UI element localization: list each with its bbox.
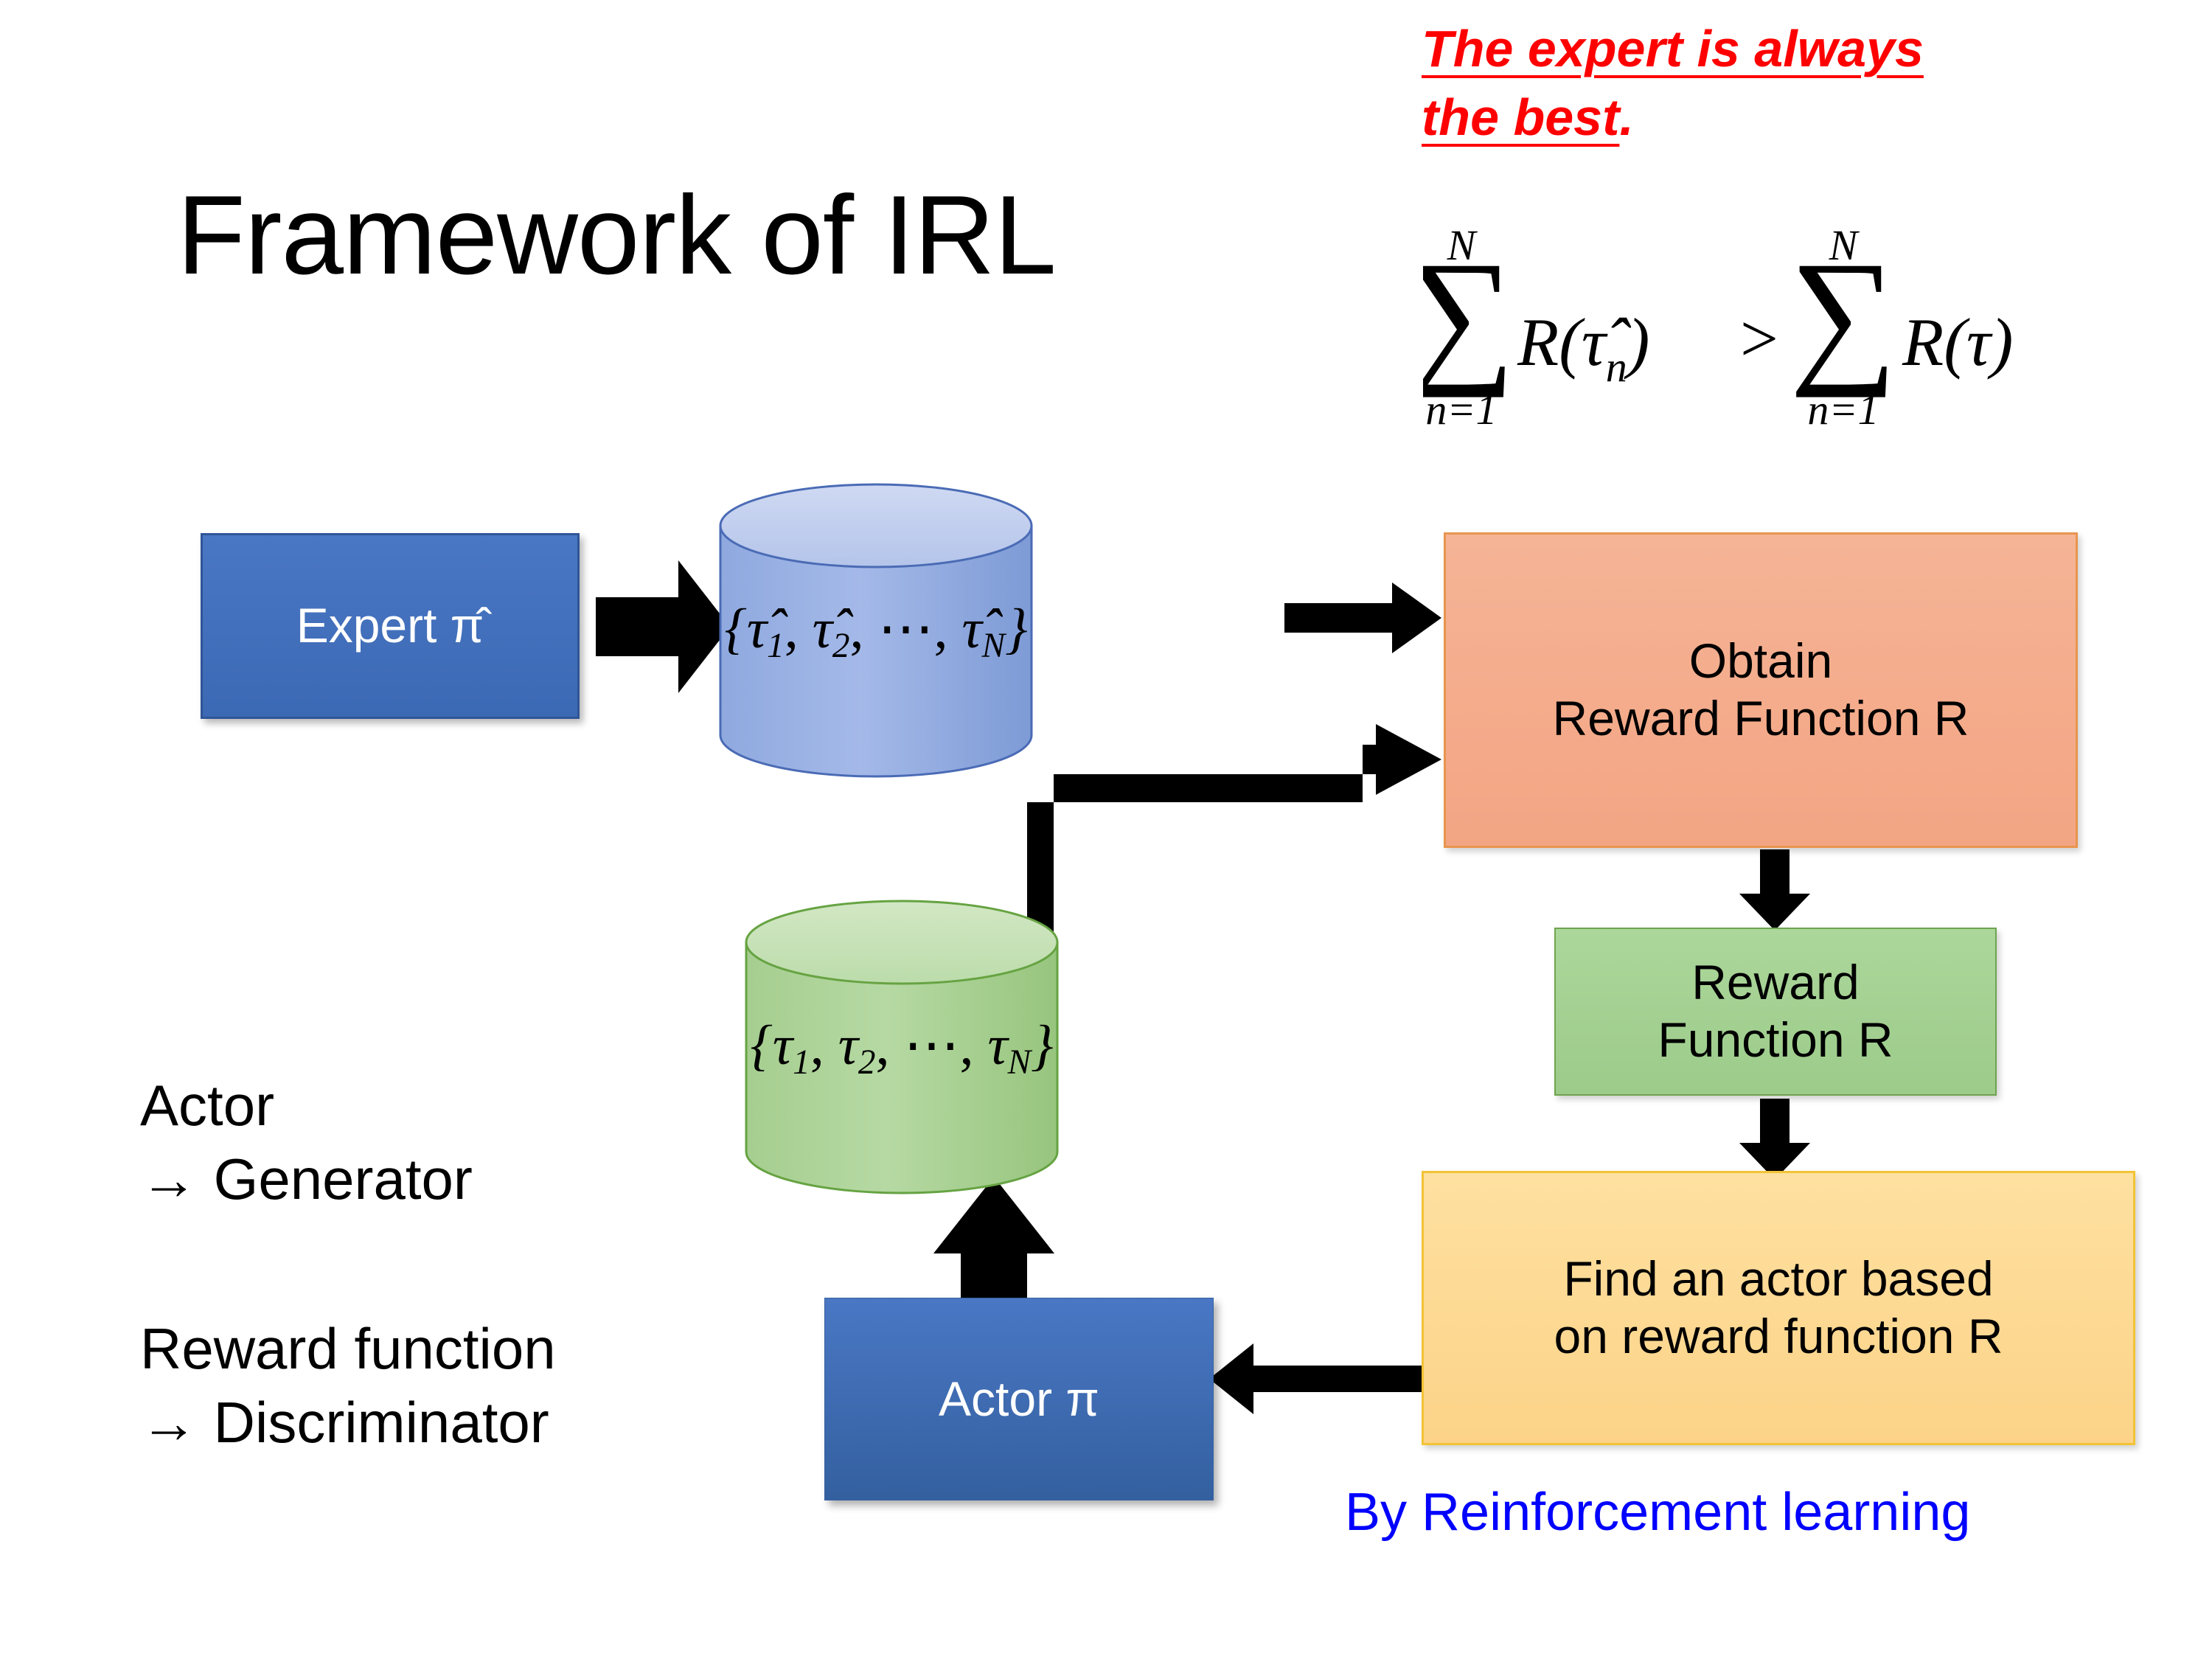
expert-trajectory-set: {τ̂1, τ̂2, ⋯, τ̂N}: [725, 595, 1028, 666]
arrow-find-to-actor: [1209, 1343, 1422, 1414]
expert-note: The expert is always the best.: [1422, 15, 2159, 152]
arrow-trajectories-to-obtain: [1284, 582, 1441, 653]
note-actor-line2: → Generator: [140, 1143, 473, 1217]
page-title: Framework of IRL: [177, 177, 1056, 295]
arrow-expert-to-trajectories: [596, 560, 730, 693]
expert-trajectory-label: {τ̂1, τ̂2, ⋯, τ̂N}: [719, 483, 1033, 778]
expert-note-line1-text: The expert is always: [1422, 20, 1924, 77]
obtain-reward-function-box[interactable]: Obtain Reward Function R: [1444, 532, 2078, 848]
note-reward-line2: → Discriminator: [140, 1386, 556, 1460]
reward-line-1: Reward: [1691, 955, 1859, 1009]
obtain-reward-function-label: Obtain Reward Function R: [1553, 633, 1969, 748]
reward-inequality-formula: N ∑ n=1 R(τ̂n) > N ∑ n=1 R(τ): [1423, 221, 2183, 435]
arrow-head-actor-traj-to-obtain: [1376, 724, 1441, 795]
expert-policy-box[interactable]: Expert π̂: [201, 533, 580, 719]
actor-policy-label: Actor π: [939, 1371, 1099, 1428]
find-actor-label: Find an actor based on reward function R: [1554, 1251, 2003, 1366]
actor-trajectory-label: {τ1, τ2, ⋯, τN}: [745, 900, 1059, 1194]
reward-function-box[interactable]: Reward Function R: [1554, 928, 1997, 1096]
expert-trajectory-store: {τ̂1, τ̂2, ⋯, τ̂N}: [719, 483, 1033, 778]
arrow-obtain-to-reward: [1739, 849, 1810, 931]
right-sum-sigma: ∑: [1790, 231, 1897, 398]
expert-note-line2-text: the best: [1422, 88, 1619, 146]
relation-greater-than: >: [1740, 301, 1778, 376]
note-actor-generator: Actor → Generator: [140, 1069, 473, 1217]
note-actor-line1: Actor: [140, 1069, 473, 1143]
arrow-reward-to-find: [1739, 1099, 1810, 1180]
left-term: R(τ̂n): [1517, 305, 1649, 391]
connector-stub: [1363, 745, 1389, 774]
connector-actor-traj-to-obtain: [1027, 745, 1389, 945]
actor-trajectory-set: {τ1, τ2, ⋯, τN}: [751, 1012, 1054, 1082]
expert-note-line1: The expert is always: [1422, 15, 2159, 83]
reward-line-2: Function R: [1658, 1012, 1893, 1067]
expert-policy-label: Expert π̂: [296, 597, 484, 655]
find-line-1: Find an actor based: [1563, 1251, 1993, 1306]
obtain-line-2: Reward Function R: [1553, 691, 1969, 745]
arrow-actor-to-trajectories: [933, 1177, 1054, 1299]
expert-note-line2: the best.: [1422, 83, 2159, 152]
actor-trajectory-store: {τ1, τ2, ⋯, τN}: [745, 900, 1059, 1194]
reinforcement-learning-note: By Reinforcement learning: [1345, 1482, 1970, 1543]
left-sum-lower: n=1: [1425, 386, 1497, 434]
expert-note-period: .: [1619, 88, 1633, 146]
left-sum-sigma: ∑: [1423, 231, 1515, 398]
find-actor-box[interactable]: Find an actor based on reward function R: [1422, 1171, 2135, 1445]
obtain-line-1: Obtain: [1689, 633, 1832, 688]
note-reward-discriminator: Reward function → Discriminator: [140, 1312, 556, 1460]
note-reward-line1: Reward function: [140, 1312, 556, 1386]
right-term: R(τ): [1902, 305, 2013, 380]
actor-policy-box[interactable]: Actor π: [824, 1298, 1214, 1500]
find-line-2: on reward function R: [1554, 1309, 2003, 1363]
right-sum-lower: n=1: [1807, 386, 1879, 434]
reward-function-label: Reward Function R: [1658, 954, 1893, 1069]
